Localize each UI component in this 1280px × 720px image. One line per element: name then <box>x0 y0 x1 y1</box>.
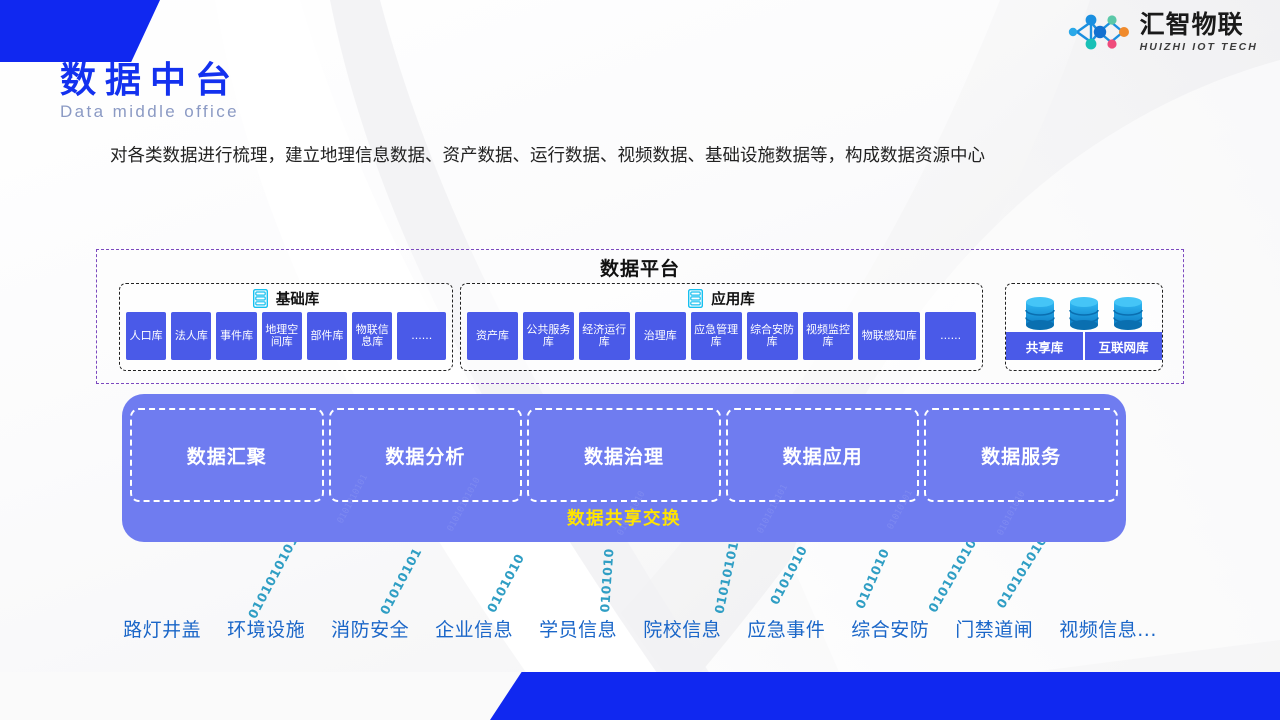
server-rack-icon <box>253 289 268 308</box>
application-library-box: 应用库 资产库 公共服务库 经济运行库 治理库 应急管理库 综合安防库 视频监控… <box>460 283 983 371</box>
side-store-label[interactable]: 互联网库 <box>1083 332 1162 360</box>
molecule-network-icon <box>1067 10 1131 54</box>
library-chip[interactable]: 资产库 <box>467 312 518 360</box>
binary-stream: 0101010 <box>852 546 892 611</box>
library-chip[interactable]: 治理库 <box>635 312 686 360</box>
bottom-right-blue-accent <box>490 672 1280 720</box>
page-title-block: 数据中台 Data middle office <box>60 62 240 122</box>
source-tag[interactable]: 学员信息 <box>539 615 617 642</box>
binary-stream-group: 01010101010 01010101 0101010 0101010 010… <box>0 540 1280 620</box>
binary-stream: 01010101 <box>377 545 425 617</box>
application-library-header: 应用库 <box>461 287 982 309</box>
server-rack-icon <box>688 289 703 308</box>
binary-stream: 010101010 <box>711 531 743 615</box>
source-tag[interactable]: 环境设施 <box>227 615 305 642</box>
source-tag[interactable]: 综合安防 <box>851 615 929 642</box>
side-store-labels: 共享库 互联网库 <box>1006 332 1162 360</box>
library-chip[interactable]: ...... <box>397 312 446 360</box>
capability-card[interactable]: 数据应用 <box>726 408 920 502</box>
library-chip[interactable]: 法人库 <box>171 312 211 360</box>
source-tag[interactable]: 视频信息... <box>1059 615 1157 642</box>
library-chip[interactable]: 综合安防库 <box>747 312 798 360</box>
logo-name-cn: 汇智物联 <box>1140 12 1258 37</box>
source-tag[interactable]: 应急事件 <box>747 615 825 642</box>
source-tag[interactable]: 路灯井盖 <box>123 615 201 642</box>
capability-panel: 0101010101 01010101010 010101010 0101010… <box>122 394 1126 542</box>
source-tag[interactable]: 企业信息 <box>435 615 513 642</box>
library-chip[interactable]: 人口库 <box>126 312 166 360</box>
library-chip[interactable]: 物联感知库 <box>858 312 920 360</box>
data-platform-container: 数据平台 基础库 人口库 法人库 事件库 地理空间库 部件库 物联信息库 ...… <box>96 249 1184 384</box>
brand-logo: 汇智物联 HUIZHI IOT TECH <box>1067 10 1258 54</box>
basic-library-items: 人口库 法人库 事件库 地理空间库 部件库 物联信息库 ...... <box>120 309 452 366</box>
database-cylinder-icon <box>1023 296 1057 332</box>
library-chip[interactable]: 部件库 <box>307 312 347 360</box>
page-subtitle: Data middle office <box>60 102 240 122</box>
capability-card[interactable]: 数据治理 <box>527 408 721 502</box>
capability-card[interactable]: 数据服务 <box>924 408 1118 502</box>
basic-library-box: 基础库 人口库 法人库 事件库 地理空间库 部件库 物联信息库 ...... <box>119 283 453 371</box>
library-chip[interactable]: 应急管理库 <box>691 312 742 360</box>
source-tag[interactable]: 院校信息 <box>643 615 721 642</box>
library-chip[interactable]: 事件库 <box>216 312 256 360</box>
source-tag[interactable]: 消防安全 <box>331 615 409 642</box>
side-store-icons <box>1006 284 1162 332</box>
data-sharing-exchange-label: 数据共享交换 <box>122 505 1126 530</box>
binary-stream: 010101010 <box>925 536 979 615</box>
page-description: 对各类数据进行梳理，建立地理信息数据、资产数据、运行数据、视频数据、基础设施数据… <box>110 137 1180 176</box>
source-tag[interactable]: 门禁道闸 <box>955 615 1033 642</box>
application-library-items: 资产库 公共服务库 经济运行库 治理库 应急管理库 综合安防库 视频监控库 物联… <box>461 309 982 366</box>
library-chip[interactable]: 公共服务库 <box>523 312 574 360</box>
database-cylinder-icon <box>1111 296 1145 332</box>
binary-stream: 0101010 <box>597 548 616 613</box>
capability-card[interactable]: 数据分析 <box>329 408 523 502</box>
basic-library-header: 基础库 <box>120 287 452 309</box>
application-library-label: 应用库 <box>711 288 755 309</box>
capability-card[interactable]: 数据汇聚 <box>130 408 324 502</box>
logo-name-en: HUIZHI IOT TECH <box>1140 42 1258 53</box>
binary-stream: 0101010 <box>767 543 810 607</box>
capability-card-row: 数据汇聚 数据分析 数据治理 数据应用 数据服务 <box>130 408 1118 502</box>
source-tag-row: 路灯井盖 环境设施 消防安全 企业信息 学员信息 院校信息 应急事件 综合安防 … <box>0 615 1280 642</box>
database-cylinder-icon <box>1067 296 1101 332</box>
library-chip[interactable]: 物联信息库 <box>352 312 392 360</box>
side-store-box: 共享库 互联网库 <box>1005 283 1163 371</box>
basic-library-label: 基础库 <box>276 288 320 309</box>
library-chip[interactable]: ...... <box>925 312 976 360</box>
side-store-label[interactable]: 共享库 <box>1006 332 1083 360</box>
binary-stream: 0101010 <box>484 551 527 615</box>
page-title: 数据中台 <box>60 62 240 100</box>
data-platform-title: 数据平台 <box>97 254 1183 281</box>
library-chip[interactable]: 经济运行库 <box>579 312 630 360</box>
library-chip[interactable]: 地理空间库 <box>262 312 302 360</box>
library-chip[interactable]: 视频监控库 <box>803 312 854 360</box>
